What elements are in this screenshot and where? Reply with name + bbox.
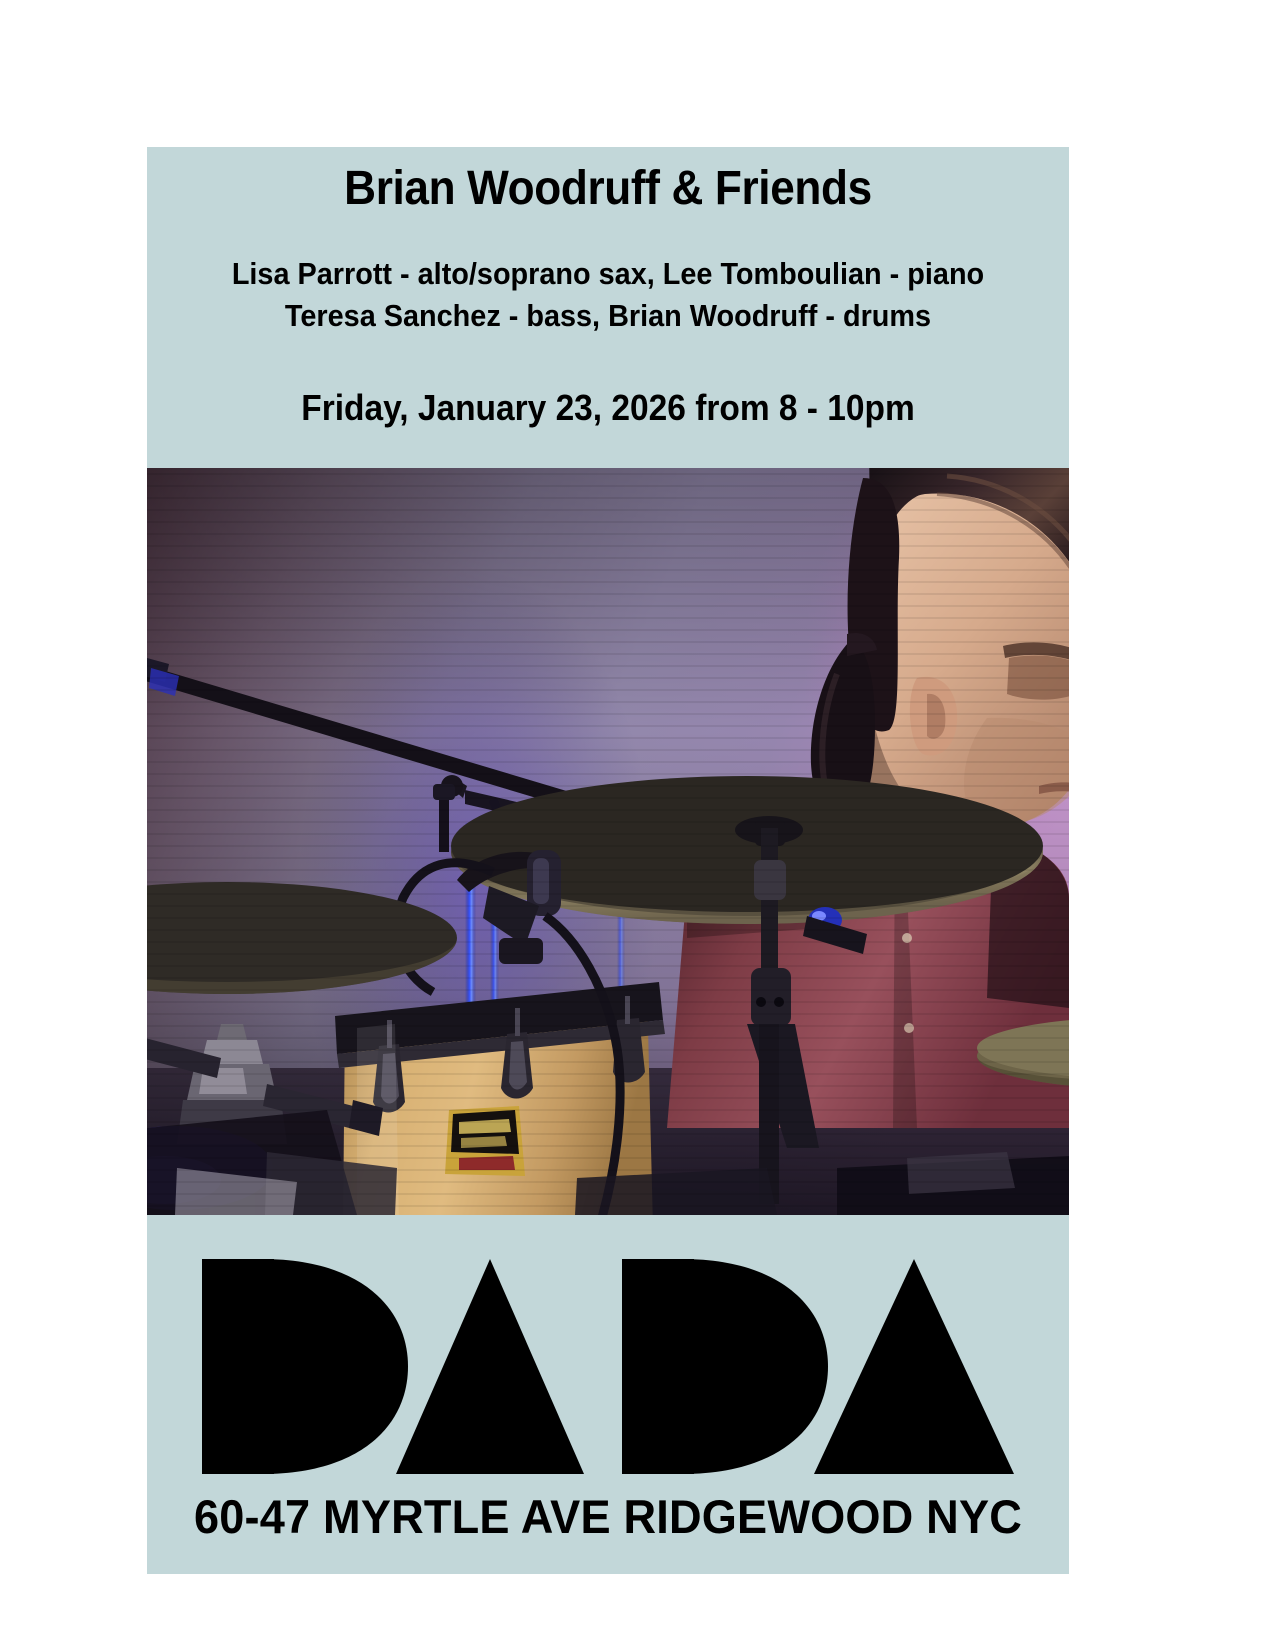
dada-logo	[202, 1259, 1014, 1474]
dada-letter-d-2	[622, 1259, 828, 1474]
drummer-photo	[147, 468, 1069, 1215]
event-datetime: Friday, January 23, 2026 from 8 - 10pm	[179, 387, 1036, 429]
venue-address: 60-47 MYRTLE AVE RIDGEWOOD NYC	[165, 1489, 1050, 1544]
poster-header: Brian Woodruff & Friends Lisa Parrott - …	[147, 147, 1069, 468]
dada-logo-mark	[202, 1259, 1014, 1474]
lineup-line-1: Lisa Parrott - alto/soprano sax, Lee Tom…	[179, 253, 1036, 295]
band-lineup: Lisa Parrott - alto/soprano sax, Lee Tom…	[179, 253, 1036, 337]
dada-letter-d-1	[202, 1259, 408, 1474]
drum-badge	[445, 1106, 525, 1176]
event-poster: Brian Woodruff & Friends Lisa Parrott - …	[147, 147, 1069, 1574]
lineup-line-2: Teresa Sanchez - bass, Brian Woodruff - …	[179, 295, 1036, 337]
venue-block: 60-47 MYRTLE AVE RIDGEWOOD NYC	[147, 1215, 1069, 1574]
dada-letter-a-1	[396, 1259, 584, 1474]
page-title: Brian Woodruff & Friends	[184, 161, 1032, 216]
drummer-photo-illustration	[147, 468, 1069, 1215]
dada-letter-a-2	[814, 1259, 1014, 1474]
